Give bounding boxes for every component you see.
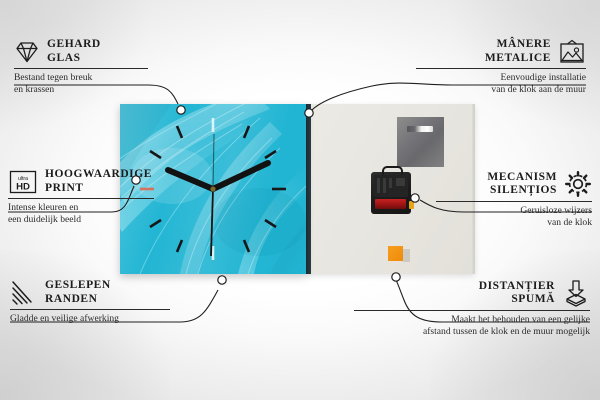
feature-header: GESLEPEN RANDEN — [10, 279, 180, 306]
feature-header: MECANISM SILENȚIOS — [436, 170, 592, 198]
feature-title: DISTANȚIER SPUMĂ — [479, 280, 555, 307]
feature-title: GESLEPEN RANDEN — [45, 279, 111, 306]
feature-manere-metalice[interactable]: MÂNERE METALICE Eenvoudige installatie v… — [416, 38, 586, 95]
beveled-edges-icon — [10, 280, 38, 306]
movement-detail — [377, 178, 380, 193]
feature-desc: Geruisloze wijzers van de klok — [436, 205, 592, 228]
feature-desc: Eenvoudige installatie van de klok aan d… — [416, 72, 586, 95]
feature-geslepen-randen[interactable]: GESLEPEN RANDEN Gladde en veilige afwerk… — [10, 279, 180, 325]
quartz-movement — [371, 172, 411, 214]
feature-rule — [354, 310, 590, 311]
feature-gehard-glas[interactable]: GEHARD GLAS Bestand tegen breuk en krass… — [14, 38, 164, 95]
movement-detail — [389, 178, 392, 188]
battery — [375, 199, 406, 209]
feature-header: MÂNERE METALICE — [416, 38, 586, 65]
feature-desc: Maakt het behouden van een gelijke afsta… — [354, 314, 590, 337]
feature-rule — [8, 198, 154, 199]
svg-text:HD: HD — [16, 181, 30, 192]
foam-spacer — [388, 246, 403, 261]
hour-hand — [168, 170, 213, 189]
movement-detail — [396, 178, 405, 186]
clock-glass-edge — [306, 104, 311, 274]
hanger-slot — [407, 126, 433, 132]
feature-title: HOOGWAARDIGE PRINT — [45, 168, 152, 195]
feature-rule — [10, 309, 170, 310]
feature-desc: Gladde en veilige afwerking — [10, 313, 180, 325]
gear-icon — [564, 170, 592, 198]
spacer-shadow — [403, 249, 410, 262]
minute-hand — [213, 163, 268, 189]
feature-rule — [436, 201, 592, 202]
feature-mecanism-silentios[interactable]: MECANISM SILENȚIOS Geruisloze wijzers va… — [436, 170, 592, 228]
second-hand — [211, 189, 213, 256]
diamond-icon — [14, 40, 40, 64]
infographic-canvas: GEHARD GLAS Bestand tegen breuk en krass… — [0, 0, 600, 400]
ultra-hd-icon: ultra HD — [8, 169, 38, 195]
feature-desc: Intense kleuren en een duidelijk beeld — [8, 202, 168, 225]
hands-hub — [210, 186, 215, 191]
feature-title: MECANISM SILENȚIOS — [487, 171, 557, 198]
movement-detail — [383, 178, 386, 193]
feature-rule — [416, 68, 586, 69]
metal-hanger-plate — [397, 117, 444, 167]
feature-header: GEHARD GLAS — [14, 38, 164, 65]
feature-distantier-spuma[interactable]: DISTANȚIER SPUMĂ Maakt het behouden van … — [354, 279, 590, 337]
feature-title: MÂNERE METALICE — [485, 38, 551, 65]
picture-hanger-icon — [558, 39, 586, 65]
feature-rule — [14, 68, 148, 69]
product-photo — [120, 104, 475, 274]
connector-dot-randen — [218, 276, 226, 284]
feature-desc: Bestand tegen breuk en krassen — [14, 72, 164, 95]
foam-spacer-icon — [562, 279, 590, 307]
feature-hoogwaardige-print[interactable]: ultra HD HOOGWAARDIGE PRINT Intense kleu… — [8, 168, 168, 225]
feature-title: GEHARD GLAS — [47, 38, 101, 65]
feature-header: ultra HD HOOGWAARDIGE PRINT — [8, 168, 168, 195]
feature-header: DISTANȚIER SPUMĂ — [354, 279, 590, 307]
battery-plus-terminal — [409, 201, 414, 209]
